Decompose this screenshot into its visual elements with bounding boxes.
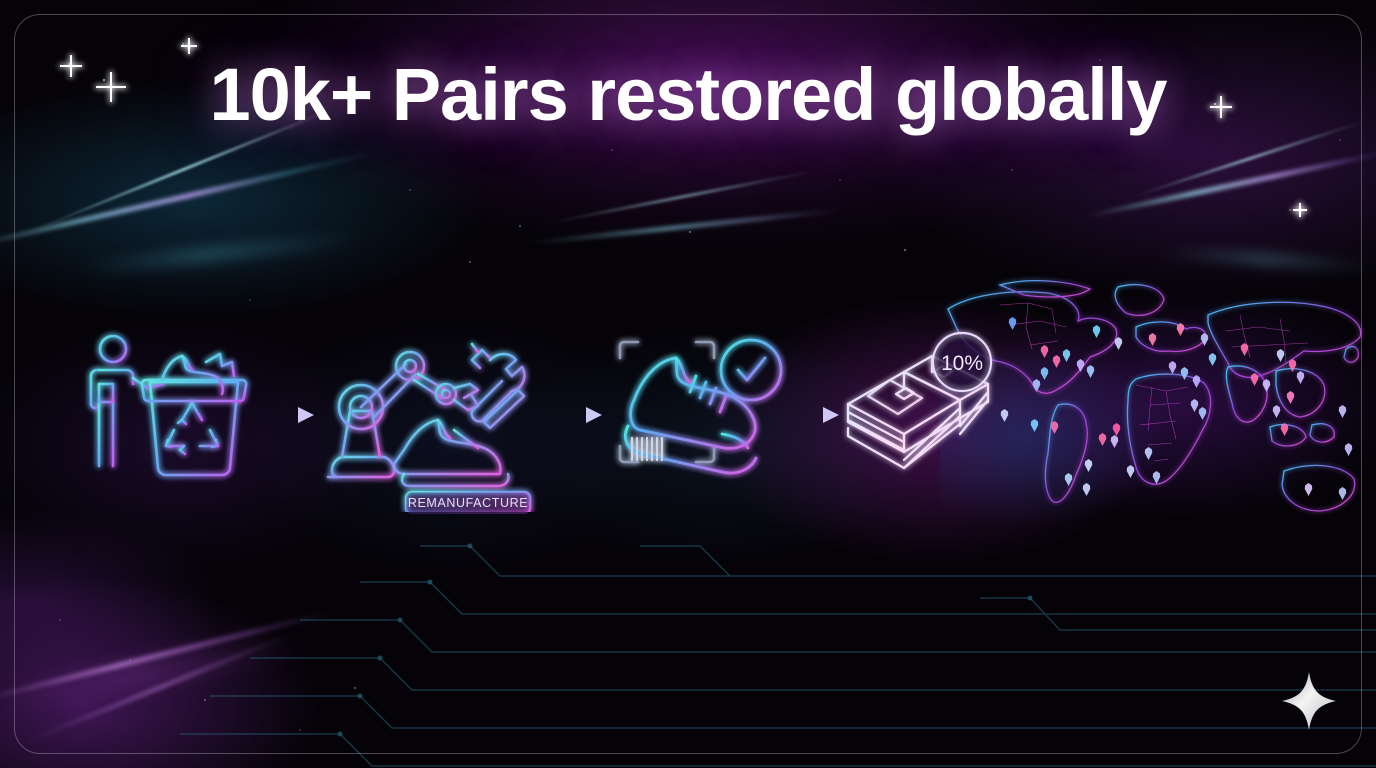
comet-streak xyxy=(69,231,369,276)
arrow-right-icon-2 xyxy=(548,406,604,424)
infographic-canvas: REMANUFACTURE xyxy=(0,0,1376,768)
arrow-right-icon-1 xyxy=(260,406,316,424)
comet-streak xyxy=(1150,245,1376,273)
step-icons-row: REMANUFACTURE xyxy=(0,322,1376,512)
step-icon-sell[interactable] xyxy=(600,322,790,512)
remanufacture-badge: REMANUFACTURE xyxy=(406,492,530,514)
comet-streak xyxy=(1079,146,1376,220)
step-icon-collect[interactable] xyxy=(78,322,273,512)
step-icon-profit[interactable]: 10% xyxy=(832,322,1012,512)
profit-badge-text: 10% xyxy=(941,352,983,375)
circuit-trace-pattern xyxy=(0,538,1376,768)
star-sparkle-icon xyxy=(1293,203,1307,217)
step-icon-remanufacture[interactable]: REMANUFACTURE xyxy=(318,322,568,512)
process-steps: REMANUFACTURE xyxy=(0,322,1376,512)
sparkle-star-icon xyxy=(1280,670,1338,732)
comet-streak xyxy=(520,208,849,246)
page-title: 10k+ Pairs restored globally xyxy=(0,52,1376,137)
